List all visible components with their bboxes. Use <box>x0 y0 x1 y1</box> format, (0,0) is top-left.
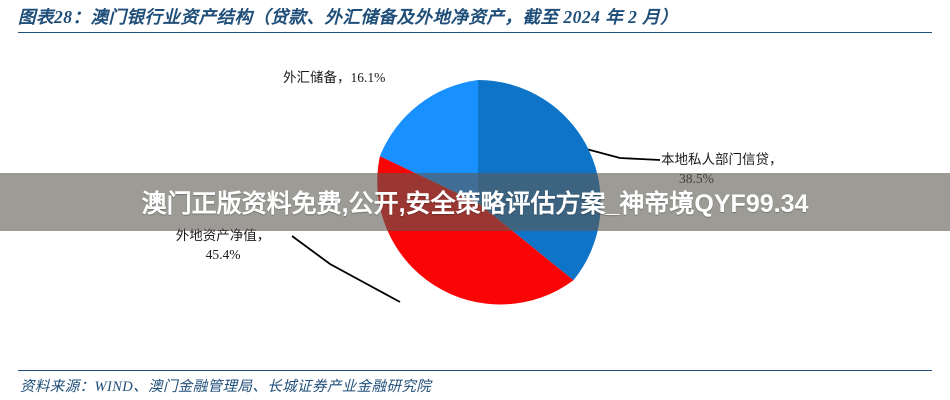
data-label-external-nav: 外地资产净值， 45.4% <box>148 226 298 264</box>
title-divider <box>18 32 932 33</box>
data-label-local-credit-line1: 本地私人部门信贷， <box>661 152 783 167</box>
page-title: 图表28：澳门银行业资产结构（贷款、外汇储备及外地净资产，截至 2024 年 2… <box>18 4 932 30</box>
source-note: 资料来源：WIND、澳门金融管理局、长城证券产业金融研究院 <box>20 375 431 396</box>
watermark-overlay: 澳门正版资料免费,公开,安全策略评估方案_神帝境QYF99.34 <box>0 173 950 231</box>
figure-title-band: 图表28：澳门银行业资产结构（贷款、外汇储备及外地净资产，截至 2024 年 2… <box>18 4 932 34</box>
figure-root: 图表28：澳门银行业资产结构（贷款、外汇储备及外地净资产，截至 2024 年 2… <box>0 0 950 400</box>
watermark-text: 澳门正版资料免费,公开,安全策略评估方案_神帝境QYF99.34 <box>142 184 809 220</box>
source-divider <box>18 370 932 371</box>
data-label-external-nav-line2: 45.4% <box>148 245 298 264</box>
data-label-fx-reserves: 外汇储备，16.1% <box>283 68 385 87</box>
